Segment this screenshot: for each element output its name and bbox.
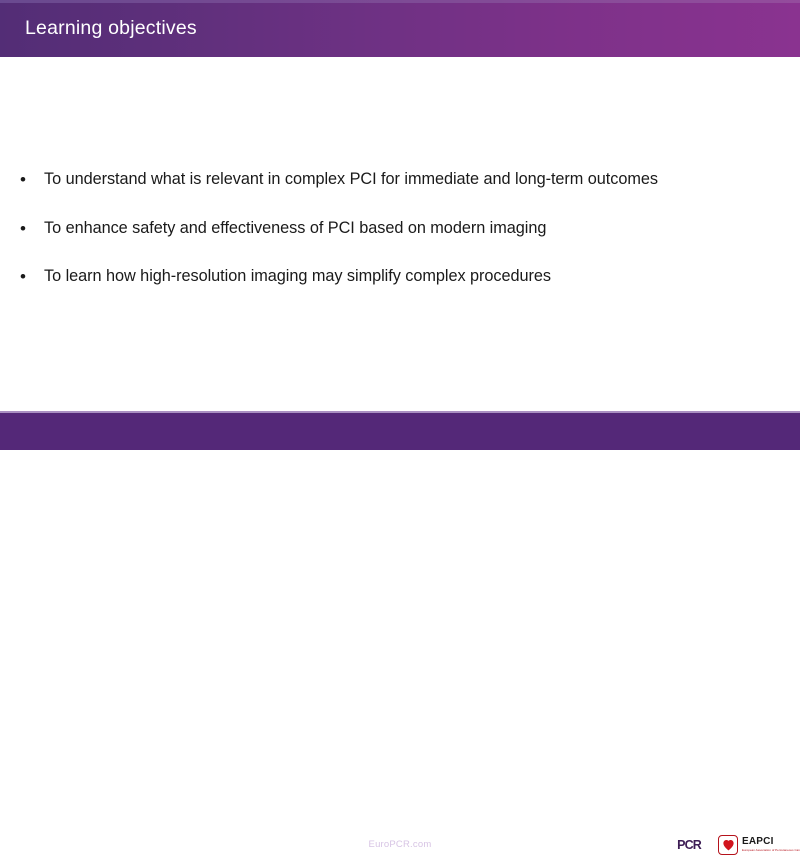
list-item-text: To enhance safety and effectiveness of P…	[44, 214, 786, 244]
page-title: Learning objectives	[25, 0, 197, 57]
list-item: • To enhance safety and effectiveness of…	[16, 214, 786, 244]
list-item: • To understand what is relevant in comp…	[16, 165, 786, 195]
eapci-logo-badge: EAPCI European Association of Percutaneo…	[714, 832, 792, 857]
bullet-point-icon: •	[16, 262, 44, 291]
list-item-text: To learn how high-resolution imaging may…	[44, 262, 786, 292]
slide-body: • To understand what is relevant in comp…	[0, 57, 800, 413]
slide: Learning objectives • To understand what…	[0, 0, 800, 450]
slide-footer: 2024 euro PCR EuroPCR.com PCR EAPCI	[0, 413, 800, 450]
bullet-point-icon: •	[16, 214, 44, 243]
bullet-point-icon: •	[16, 165, 44, 194]
bullet-list: • To understand what is relevant in comp…	[16, 165, 786, 311]
pcr-logo-badge: PCR	[672, 833, 706, 857]
footer-logo-group: PCR EAPCI European Association of Percut…	[672, 832, 792, 857]
slide-header: Learning objectives	[0, 0, 800, 57]
list-item-text: To understand what is relevant in comple…	[44, 165, 786, 195]
eapci-text-block: EAPCI European Association of Percutaneo…	[742, 837, 800, 852]
heart-icon	[718, 835, 738, 855]
eapci-subtitle: European Association of Percutaneous Car…	[742, 849, 800, 852]
pcr-logo-text: PCR	[677, 838, 701, 852]
eapci-name: EAPCI	[742, 837, 800, 847]
list-item: • To learn how high-resolution imaging m…	[16, 262, 786, 292]
